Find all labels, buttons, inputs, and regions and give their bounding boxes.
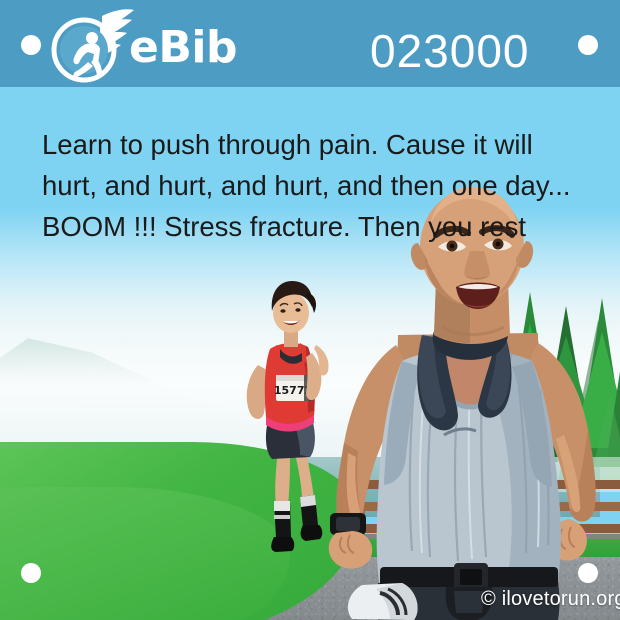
watermark: © ilovetorun.org bbox=[481, 588, 620, 611]
ebib-quote-card: 15772 bbox=[0, 0, 620, 620]
bib-number: 023000 bbox=[370, 24, 530, 78]
quote-text: Learn to push through pain. Cause it wil… bbox=[42, 124, 582, 247]
bib-punch-dot-top-right bbox=[578, 35, 598, 55]
bib-punch-dot-bottom-right bbox=[578, 563, 598, 583]
bib-punch-dot-bottom-left bbox=[21, 563, 41, 583]
bib-punch-dot-top-left bbox=[21, 35, 41, 55]
winged-runner-emblem-icon[interactable] bbox=[42, 8, 142, 86]
male-runner bbox=[318, 185, 620, 620]
brand-logotype: eBib bbox=[129, 22, 237, 73]
